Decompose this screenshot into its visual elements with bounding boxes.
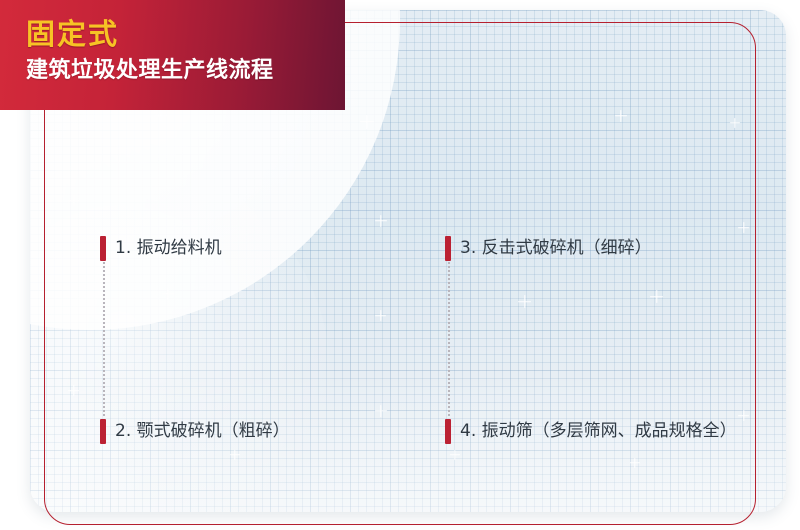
- flowchart-poster: 1. 振动给料机 2. 颚式破碎机（粗碎） 3. 反击式破碎机（细碎） 4. 振…: [0, 0, 800, 530]
- step-marker-1: [100, 236, 106, 261]
- step-label-2: 2. 颚式破碎机（粗碎）: [100, 419, 290, 444]
- connector-line-left: [103, 258, 105, 416]
- step-marker-3: [445, 236, 451, 261]
- step-marker-4: [445, 419, 451, 444]
- banner-title-primary: 固定式: [26, 20, 119, 49]
- step-label-1: 1. 振动给料机: [100, 236, 222, 261]
- step-marker-2: [100, 419, 106, 444]
- step-label-4: 4. 振动筛（多层筛网、成品规格全）: [445, 419, 737, 444]
- step-label-2-text: 2. 颚式破碎机（粗碎）: [115, 423, 290, 441]
- step-label-3-text: 3. 反击式破碎机（细碎）: [460, 240, 652, 258]
- step-label-3: 3. 反击式破碎机（细碎）: [445, 236, 652, 261]
- connector-line-right: [448, 258, 450, 416]
- title-banner: 固定式 建筑垃圾处理生产线流程: [0, 0, 345, 110]
- step-label-4-text: 4. 振动筛（多层筛网、成品规格全）: [460, 423, 737, 441]
- step-label-1-text: 1. 振动给料机: [115, 240, 222, 258]
- banner-title-secondary: 建筑垃圾处理生产线流程: [26, 60, 274, 82]
